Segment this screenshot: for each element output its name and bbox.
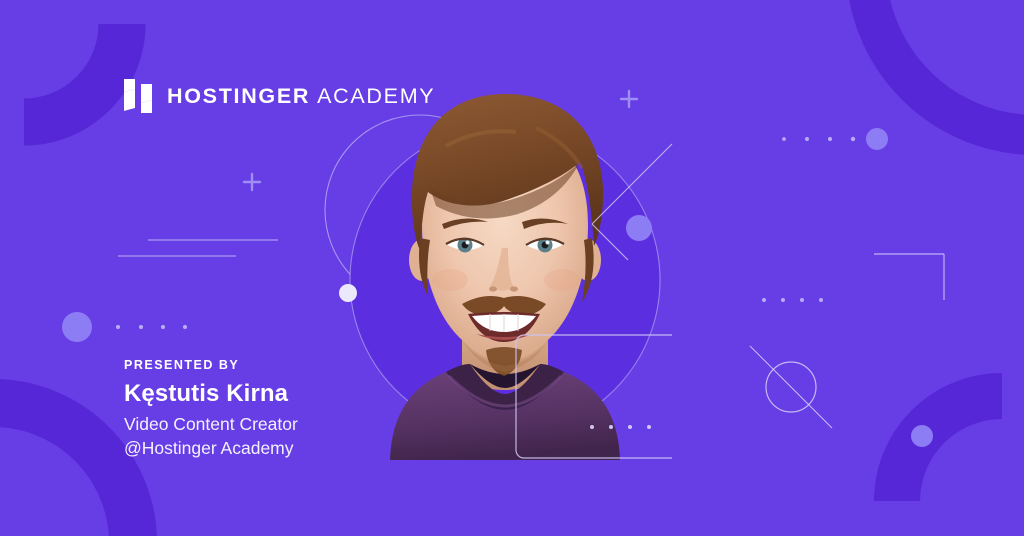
presenter-role: Video Content Creator — [124, 412, 298, 436]
logo-sub-text: ACADEMY — [317, 84, 435, 109]
hostinger-academy-logo[interactable]: HOSTINGER ACADEMY — [123, 78, 435, 114]
content-layer: HOSTINGER ACADEMY PRESENTED BY Kęstutis … — [0, 0, 1024, 536]
presenter-handle: @Hostinger Academy — [124, 436, 298, 460]
logo-wordmark: HOSTINGER ACADEMY — [167, 84, 435, 109]
presenter-name: Kęstutis Kirna — [124, 381, 298, 408]
hostinger-h-logo-icon — [123, 78, 153, 114]
presented-by-label: PRESENTED BY — [124, 358, 298, 372]
presenter-info: PRESENTED BY Kęstutis Kirna Video Conten… — [124, 358, 298, 460]
logo-brand-text: HOSTINGER — [167, 84, 310, 109]
presenter-card: HOSTINGER ACADEMY PRESENTED BY Kęstutis … — [0, 0, 1024, 536]
